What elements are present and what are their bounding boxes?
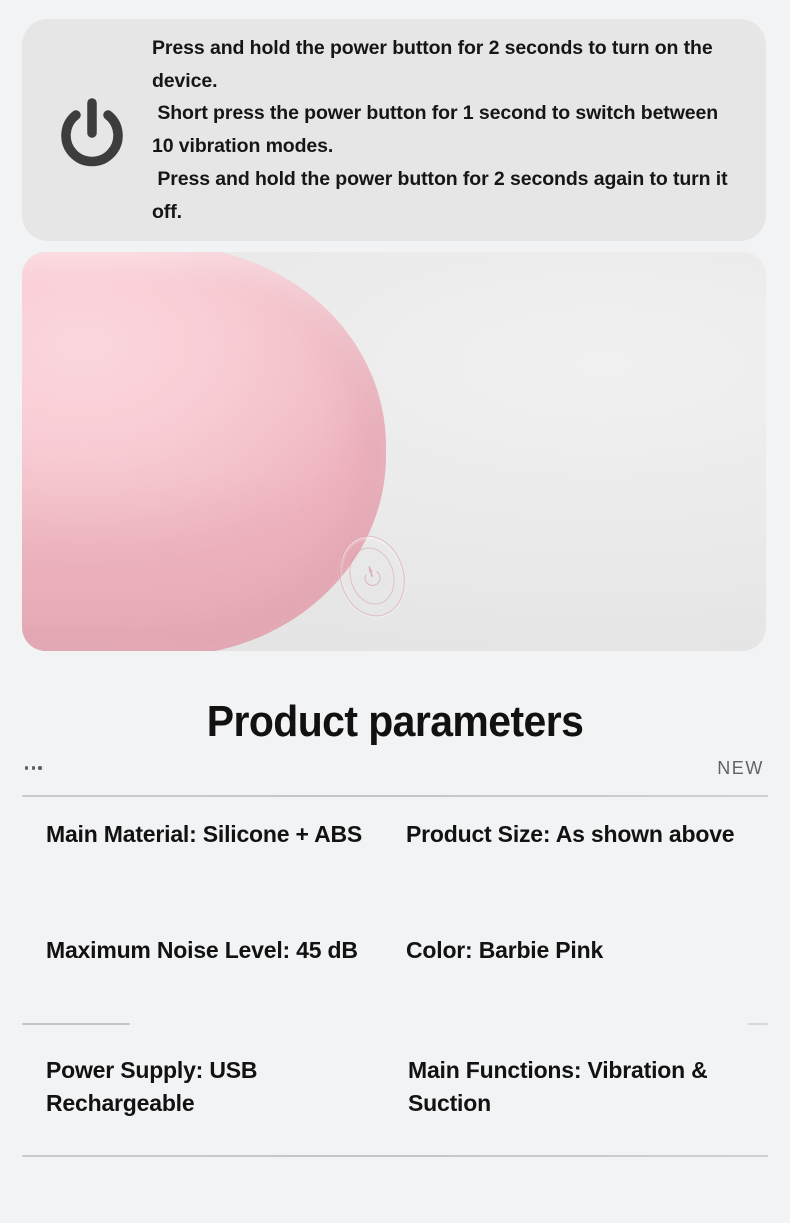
instruction-line-1: Press and hold the power button for 2 se… bbox=[152, 32, 740, 98]
table-row: Power Supply: USB Rechargeable Main Func… bbox=[22, 1054, 768, 1154]
table-row: Main Material: Silicone + ABS Product Si… bbox=[22, 818, 768, 934]
page-title: Product parameters bbox=[28, 697, 763, 747]
spec-main-functions: Main Functions: Vibration & Suction bbox=[384, 1054, 768, 1154]
usage-instructions-card: Press and hold the power button for 2 se… bbox=[22, 19, 766, 241]
power-icon bbox=[32, 87, 152, 173]
product-image bbox=[22, 252, 766, 651]
spec-color: Color: Barbie Pink bbox=[384, 934, 768, 1054]
table-row: Maximum Noise Level: 45 dB Color: Barbie… bbox=[22, 934, 768, 1054]
more-options-icon[interactable] bbox=[22, 766, 42, 769]
product-detail-page: Press and hold the power button for 2 se… bbox=[0, 0, 790, 1223]
instruction-text-block: Press and hold the power button for 2 se… bbox=[152, 32, 752, 229]
parameters-meta-row: NEW bbox=[22, 752, 766, 784]
status-badge: NEW bbox=[717, 758, 766, 779]
spec-material: Main Material: Silicone + ABS bbox=[22, 818, 384, 934]
instruction-line-3: Press and hold the power button for 2 se… bbox=[152, 163, 740, 229]
divider-middle bbox=[22, 1023, 768, 1025]
divider-top bbox=[22, 795, 768, 797]
spec-noise-level: Maximum Noise Level: 45 dB bbox=[22, 934, 384, 1054]
divider-bottom bbox=[22, 1155, 768, 1157]
spec-size: Product Size: As shown above bbox=[384, 818, 768, 934]
instruction-line-2: Short press the power button for 1 secon… bbox=[152, 97, 740, 163]
specifications-table: Main Material: Silicone + ABS Product Si… bbox=[22, 818, 768, 1154]
spec-power-supply: Power Supply: USB Rechargeable bbox=[22, 1054, 384, 1154]
